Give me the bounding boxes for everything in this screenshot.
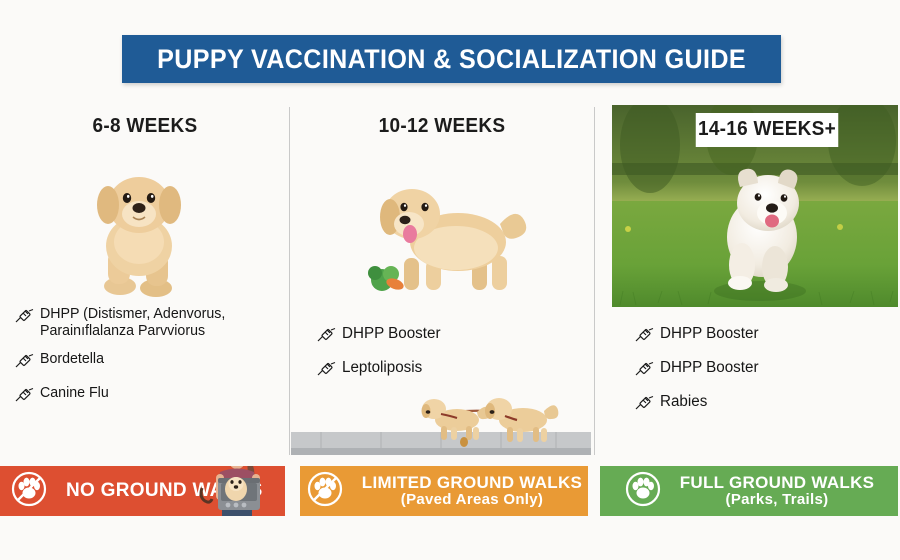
vaccine-item: Rabies (634, 393, 900, 416)
syringe-icon (634, 393, 660, 416)
vaccine-item: Bordetella (14, 351, 290, 374)
golden-retriever-puppy-with-toy-illustration (364, 162, 536, 309)
page-title: PUPPY VACCINATION & SOCIALIZATION GUIDE (157, 44, 746, 75)
syringe-icon (14, 351, 40, 374)
vaccine-label: DHPP Booster (660, 359, 759, 377)
syringe-icon (14, 385, 40, 408)
vaccine-item: DHPP Booster (316, 325, 592, 348)
vaccine-list-14-16-weeks: DHPP Booster DHPP Booster Rabies (600, 325, 900, 427)
stage-column-6-8-weeks: 6-8 WEEKS (0, 100, 290, 520)
two-puppies-on-leash-illustration (291, 390, 591, 465)
page-title-bar: PUPPY VACCINATION & SOCIALIZATION GUIDE (122, 35, 781, 83)
vaccine-item: Leptoliposis (316, 359, 592, 382)
vaccine-label: DHPP (Distismer, Adenvorus, Parainıflala… (40, 306, 225, 340)
golden-retriever-puppy-sitting-illustration (78, 158, 202, 308)
vaccine-item: DHPP (Distismer, Adenvorus, Parainıflala… (14, 306, 290, 340)
vaccine-label: DHPP Booster (342, 325, 441, 343)
vaccine-label: DHPP Booster (660, 325, 759, 343)
vaccine-label: Bordetella (40, 351, 104, 368)
syringe-icon (634, 325, 660, 348)
vaccine-item: Canine Flu (14, 385, 290, 408)
vaccine-item: DHPP Booster (634, 325, 900, 348)
vaccine-list-10-12-weeks: DHPP Booster Leptoliposis (292, 325, 592, 393)
column-heading-10-12-weeks: 10-12 WEEKS (300, 115, 585, 138)
vaccine-label: Rabies (660, 393, 707, 411)
stage-column-14-16-weeks: 14-16 WEEKS+ DHPP Booster DHPP Booster R… (600, 100, 900, 520)
syringe-icon (316, 359, 342, 382)
paw-no-entry-icon (10, 470, 52, 513)
infographic-root: PUPPY VACCINATION & SOCIALIZATION GUIDE … (0, 0, 900, 560)
activity-banner-no-ground-walks[interactable]: NO GROUND WALKS (0, 466, 285, 516)
vaccine-list-6-8-weeks: DHPP (Distismer, Adenvorus, Parainıflala… (0, 306, 290, 419)
column-heading-6-8-weeks: 6-8 WEEKS (7, 115, 283, 138)
vaccine-item: DHPP Booster (634, 359, 900, 382)
syringe-icon (316, 325, 342, 348)
column-divider-2 (594, 107, 595, 455)
vaccine-label: Leptoliposis (342, 359, 422, 377)
activity-banner-limited-ground-walks[interactable]: LIMITED GROUND WALKS (Paved Areas Only) (300, 466, 588, 516)
vaccine-label: Canine Flu (40, 385, 109, 402)
banner-label: FULL GROUND WALKS (Parks, Trails) (680, 473, 875, 509)
paw-allowed-icon (624, 470, 666, 513)
activity-banner-full-ground-walks[interactable]: FULL GROUND WALKS (Parks, Trails) (600, 466, 898, 516)
stage-column-10-12-weeks: 10-12 WEEKS (292, 100, 592, 520)
column-heading-14-16-weeks: 14-16 WEEKS+ (696, 113, 839, 147)
syringe-icon (14, 306, 40, 329)
banner-label: LIMITED GROUND WALKS (Paved Areas Only) (362, 473, 582, 509)
woman-holding-pet-carrier-illustration (192, 466, 285, 516)
syringe-icon (634, 359, 660, 382)
paw-limited-icon (306, 470, 348, 513)
